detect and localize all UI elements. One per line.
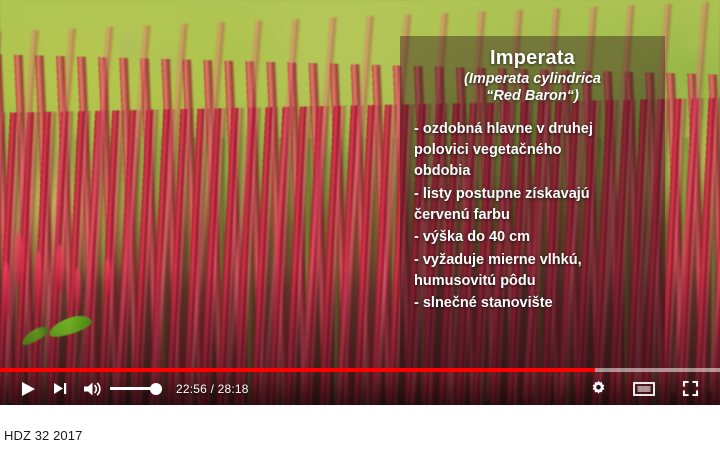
seed-plume [104, 258, 111, 298]
seed-plume [74, 268, 81, 312]
seed-plume [56, 244, 64, 292]
list-item: - ozdobná hlavne v druhej polovici veget… [414, 119, 657, 183]
play-icon [21, 381, 36, 397]
list-item: - vyžaduje mierne vlhkú, humusovitú pôdu [414, 250, 657, 293]
volume-handle[interactable] [150, 383, 162, 395]
list-item: - listy postupne získavajú červenú farbu [414, 184, 657, 227]
video-player[interactable]: Imperata (Imperata cylindrica “Red Baron… [0, 0, 720, 405]
video-caption-bar: HDZ 32 2017 [0, 405, 720, 455]
plant-scientific-name: (Imperata cylindrica “Red Baron“) [408, 71, 657, 105]
play-button[interactable] [12, 374, 44, 404]
scientific-name-line-2: “Red Baron“) [408, 88, 657, 105]
seed-plume [2, 262, 10, 320]
control-right-group [582, 374, 720, 404]
seed-plume [14, 232, 23, 286]
plant-info-overlay: Imperata (Imperata cylindrica “Red Baron… [400, 36, 665, 370]
list-item: - slnečné stanovište [414, 293, 657, 314]
player-control-bar: 22:56 / 28:18 [0, 368, 720, 405]
seed-plume [34, 250, 42, 312]
volume-icon [83, 381, 102, 397]
gear-icon [590, 380, 607, 397]
control-left-group: 22:56 / 28:18 [0, 374, 249, 404]
plant-title: Imperata [408, 48, 657, 70]
video-title[interactable]: HDZ 32 2017 [4, 428, 82, 443]
youtube-video-page: Imperata (Imperata cylindrica “Red Baron… [0, 0, 720, 455]
theater-mode-button[interactable] [628, 374, 660, 404]
volume-slider[interactable] [110, 374, 162, 404]
list-item: - výška do 40 cm [414, 227, 657, 248]
next-track-icon [53, 382, 67, 395]
fullscreen-icon [682, 380, 699, 397]
settings-button[interactable] [582, 374, 614, 404]
fullscreen-button[interactable] [674, 374, 706, 404]
control-row: 22:56 / 28:18 [0, 372, 720, 405]
mute-button[interactable] [76, 374, 108, 404]
theater-icon [633, 381, 655, 397]
plant-properties-list: - ozdobná hlavne v druhej polovici veget… [408, 119, 657, 315]
time-display: 22:56 / 28:18 [176, 383, 249, 395]
next-video-button[interactable] [44, 374, 76, 404]
scientific-name-line-1: (Imperata cylindrica [408, 71, 657, 88]
